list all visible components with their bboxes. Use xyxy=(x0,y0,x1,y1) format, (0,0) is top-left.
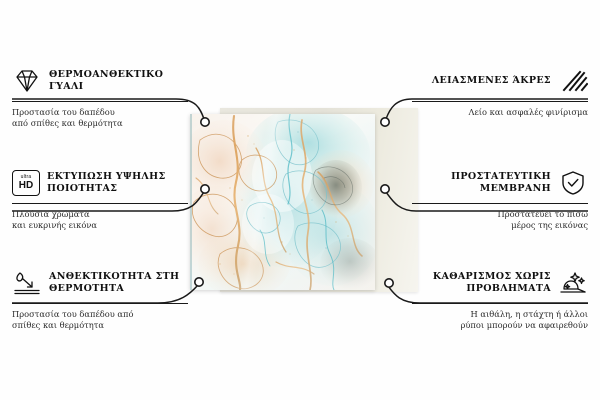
feature-title: ΕΚΤΥΠΩΣΗ ΥΨΗΛΗΣ ΠΟΙΟΤΗΤΑΣ xyxy=(47,171,188,196)
feature-header: ΠΡΟΣΤΑΤΕΥΤΙΚΗ ΜΕΜΒΡΑΝΗ xyxy=(412,166,588,200)
feature-description-line1: Πλούσια χρώματα xyxy=(12,209,188,220)
feature-description-line2: σπίθες και θερμότητα xyxy=(12,320,188,331)
divider xyxy=(12,303,188,304)
feature-description: Προστατεύει το πίσω μέρος της εικόνας xyxy=(412,209,588,231)
ultra-hd-badge-bottom: HD xyxy=(19,181,33,191)
feature-description: Προστασία του δαπέδου από σπίθες και θερ… xyxy=(12,309,188,331)
feature-title: ΚΑΘΑΡΙΣΜΟΣ ΧΩΡΙΣ ΠΡΟΒΛΗΜΑΤΑ xyxy=(412,271,551,296)
feature-description-line1: Λείο και ασφαλές φινίρισμα xyxy=(412,107,588,118)
feature-polished-edges: ΛΕΙΑΣΜΕΝΕΣ ΆΚΡΕΣ Λείο και ασφαλές φινίρι… xyxy=(412,64,588,118)
feature-description-line1: Προστατεύει το πίσω xyxy=(412,209,588,220)
feature-header: ΘΕΡΜΟΑΝΘΕΚΤΙΚΟ ΓΥΑΛΙ xyxy=(12,64,188,98)
feature-description-line1: Προστασία του δαπέδου xyxy=(12,107,188,118)
feature-header: ΚΑΘΑΡΙΣΜΟΣ ΧΩΡΙΣ ΠΡΟΒΛΗΜΑΤΑ xyxy=(412,266,588,300)
feature-description: Λείο και ασφαλές φινίρισμα xyxy=(412,107,588,118)
product-image xyxy=(175,110,415,290)
divider xyxy=(12,203,188,204)
shield-check-icon xyxy=(558,170,588,196)
feature-description-line1: Η αιθάλη, η στάχτη ή άλλοι xyxy=(412,309,588,320)
feature-heat-resistant-glass: ΘΕΡΜΟΑΝΘΕΚΤΙΚΟ ΓΥΑΛΙ Προστασία του δαπέδ… xyxy=(12,64,188,129)
feature-header: ultra HD ΕΚΤΥΠΩΣΗ ΥΨΗΛΗΣ ΠΟΙΟΤΗΤΑΣ xyxy=(12,166,188,200)
feature-title: ΘΕΡΜΟΑΝΘΕΚΤΙΚΟ ΓΥΑΛΙ xyxy=(49,69,188,94)
feature-description: Προστασία του δαπέδου από σπίθες και θερ… xyxy=(12,107,188,129)
feature-title: ΛΕΙΑΣΜΕΝΕΣ ΆΚΡΕΣ xyxy=(432,75,551,88)
feature-high-quality-print: ultra HD ΕΚΤΥΠΩΣΗ ΥΨΗΛΗΣ ΠΟΙΟΤΗΤΑΣ Πλούσ… xyxy=(12,166,188,231)
diamond-icon xyxy=(12,68,42,94)
feature-header: ΛΕΙΑΣΜΕΝΕΣ ΆΚΡΕΣ xyxy=(412,64,588,98)
feature-title: ΑΝΘΕΚΤΙΚΟΤΗΤΑ ΣΤΗ ΘΕΡΜΟΤΗΤΑ xyxy=(49,271,188,296)
feature-header: ΑΝΘΕΚΤΙΚΟΤΗΤΑ ΣΤΗ ΘΕΡΜΟΤΗΤΑ xyxy=(12,266,188,300)
feature-easy-cleaning: ΚΑΘΑΡΙΣΜΟΣ ΧΩΡΙΣ ΠΡΟΒΛΗΜΑΤΑ Η αιθάλη, η … xyxy=(412,266,588,331)
divider xyxy=(412,303,588,304)
feature-description-line2: μέρος της εικόνας xyxy=(412,220,588,231)
marble-artwork xyxy=(190,114,375,290)
feature-heat-durability: ΑΝΘΕΚΤΙΚΟΤΗΤΑ ΣΤΗ ΘΕΡΜΟΤΗΤΑ Προστασία το… xyxy=(12,266,188,331)
ultra-hd-badge-icon: ultra HD xyxy=(12,170,40,196)
feature-description-line2: από σπίθες και θερμότητα xyxy=(12,118,188,129)
divider xyxy=(12,101,188,102)
marble-artwork-svg xyxy=(190,114,375,290)
divider xyxy=(412,101,588,102)
glass-panel xyxy=(190,114,375,290)
feature-description-line2: και ευκρινής εικόνα xyxy=(12,220,188,231)
infographic-stage: ΘΕΡΜΟΑΝΘΕΚΤΙΚΟ ΓΥΑΛΙ Προστασία του δαπέδ… xyxy=(0,0,600,400)
polished-edges-icon xyxy=(558,68,588,94)
feature-description: Η αιθάλη, η στάχτη ή άλλοι ρύποι μπορούν… xyxy=(412,309,588,331)
feature-description-line2: ρύποι μπορούν να αφαιρεθούν xyxy=(412,320,588,331)
sparkle-clean-icon xyxy=(558,270,588,296)
divider xyxy=(412,203,588,204)
flame-heat-resistance-icon xyxy=(12,270,42,296)
feature-title: ΠΡΟΣΤΑΤΕΥΤΙΚΗ ΜΕΜΒΡΑΝΗ xyxy=(412,171,551,196)
feature-protective-membrane: ΠΡΟΣΤΑΤΕΥΤΙΚΗ ΜΕΜΒΡΑΝΗ Προστατεύει το πί… xyxy=(412,166,588,231)
feature-description: Πλούσια χρώματα και ευκρινής εικόνα xyxy=(12,209,188,231)
feature-description-line1: Προστασία του δαπέδου από xyxy=(12,309,188,320)
